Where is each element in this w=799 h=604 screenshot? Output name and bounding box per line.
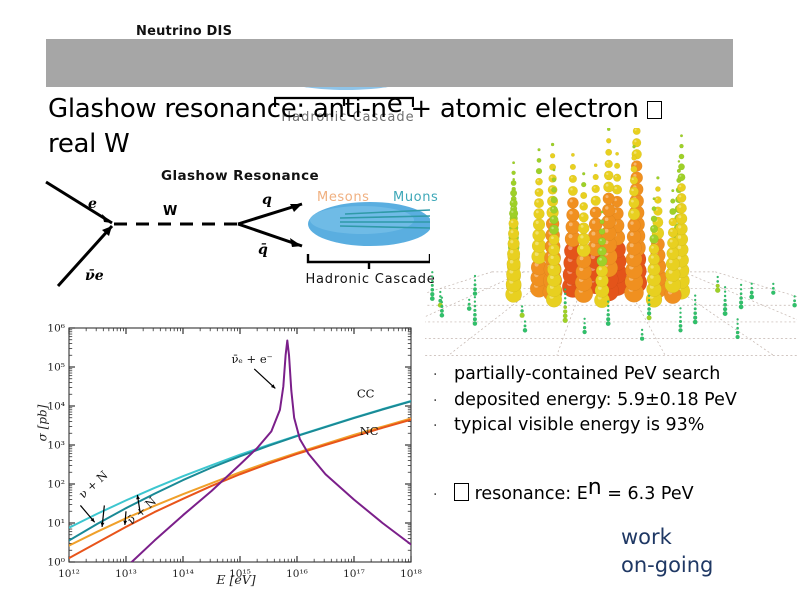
svg-text:10⁴: 10⁴	[47, 401, 65, 413]
event-dom-sphere	[602, 204, 615, 217]
event-dom-sphere	[474, 305, 477, 308]
event-dom-sphere	[793, 299, 796, 302]
event-dom-sphere	[550, 215, 559, 224]
event-dom-sphere	[736, 331, 739, 334]
event-dom-sphere	[739, 301, 743, 305]
event-dom-sphere	[430, 296, 435, 301]
event-dom-sphere	[607, 305, 609, 307]
event-dom-sphere	[647, 307, 651, 311]
event-dom-sphere	[650, 225, 658, 233]
feynman-label-antineutrino-e: ν̄e	[85, 268, 104, 284]
bullet-text-resonance: resonance: En = 6.3 PeV	[454, 477, 694, 509]
event-dom-sphere	[440, 305, 443, 308]
event-dom-sphere	[693, 316, 697, 320]
event-dom-sphere	[629, 187, 638, 196]
event-dom-sphere	[549, 225, 559, 235]
event-dom-sphere	[597, 256, 608, 267]
event-dom-sphere	[580, 192, 587, 199]
event-dom-sphere	[648, 253, 660, 265]
event-dom-sphere	[678, 328, 682, 332]
event-dom-sphere	[593, 174, 599, 180]
event-dom-sphere	[652, 206, 657, 211]
event-dom-sphere	[568, 186, 578, 196]
event-dom-sphere	[677, 183, 686, 192]
event-dom-sphere	[749, 295, 754, 300]
event-dom-sphere	[564, 293, 566, 295]
event-dom-sphere	[582, 330, 586, 334]
event-dom-sphere	[474, 301, 476, 303]
event-dom-sphere	[648, 303, 651, 306]
feynman-label-antiquark: q̄	[258, 242, 268, 258]
bullet-marker: ·	[430, 365, 454, 385]
event-dom-sphere	[564, 297, 566, 299]
chart-annotation: NC	[360, 424, 379, 438]
event-dom-sphere	[431, 280, 433, 282]
event-dom-sphere	[520, 313, 525, 318]
list-item: · typical visible energy is 93%	[430, 413, 799, 439]
event-dom-sphere	[538, 148, 541, 151]
event-dom-sphere	[553, 169, 556, 172]
event-dom-sphere	[649, 234, 658, 243]
event-dom-sphere	[580, 202, 588, 210]
event-dom-sphere	[566, 208, 579, 221]
svg-text:10¹: 10¹	[47, 518, 65, 530]
event-dom-sphere	[679, 320, 682, 323]
event-display-svg	[425, 128, 797, 360]
event-dom-sphere	[647, 311, 651, 315]
feynman-label-electron: e	[88, 196, 97, 212]
event-dom-sphere	[715, 288, 720, 293]
event-dom-sphere	[607, 313, 610, 316]
event-dom-sphere	[590, 207, 602, 219]
event-dom-sphere	[694, 299, 696, 301]
bullet-text: partially-contained PeV search	[454, 362, 720, 388]
event-dom-sphere	[441, 297, 443, 299]
event-dom-sphere	[772, 283, 774, 285]
work-ongoing-note: work on-going	[621, 524, 713, 580]
event-dom-sphere	[474, 292, 476, 294]
event-dom-sphere	[563, 318, 568, 323]
event-dom-sphere	[431, 276, 433, 278]
event-dom-sphere	[534, 198, 544, 208]
event-dom-sphere	[740, 284, 742, 286]
event-dom-sphere	[632, 156, 637, 161]
event-dom-sphere	[723, 303, 727, 307]
event-dom-sphere	[678, 173, 686, 181]
event-dom-sphere	[570, 164, 576, 170]
work-ongoing-line-1: work	[621, 524, 713, 552]
event-dom-sphere	[628, 208, 640, 220]
event-dom-sphere	[613, 174, 621, 182]
event-dom-sphere	[676, 203, 686, 213]
event-dom-sphere	[563, 309, 567, 313]
event-dom-sphere	[473, 321, 477, 325]
event-dom-sphere	[679, 324, 683, 328]
event-dom-sphere	[569, 175, 577, 183]
feynman-label-mesons: Mesons	[317, 190, 370, 205]
event-dom-sphere	[667, 247, 679, 259]
title-missing-glyph-icon	[647, 101, 662, 119]
event-dom-sphere	[792, 303, 796, 307]
chart-annotation: ν̄ₑ + e⁻	[231, 352, 272, 366]
event-dom-sphere	[473, 313, 477, 317]
event-dom-sphere	[603, 182, 614, 193]
event-dom-sphere	[533, 219, 545, 231]
chart-plot-svg: 10¹²10¹³10¹⁴10¹⁵10¹⁶10¹⁷10¹⁸10⁰10¹10²10³…	[40, 316, 432, 600]
event-dom-sphere	[571, 153, 574, 156]
title-superscript-e: e	[387, 89, 403, 119]
event-dom-sphere	[751, 287, 753, 289]
chart-annotation: CC	[357, 386, 375, 400]
bullet-text: typical visible energy is 93%	[454, 413, 704, 439]
feynman-label-hadronic-cascade: Hadronic Cascade	[298, 272, 443, 287]
event-dom-sphere	[641, 329, 643, 331]
event-dom-sphere	[606, 317, 610, 321]
event-dom-sphere	[671, 189, 674, 192]
event-dom-sphere	[537, 158, 542, 163]
event-dom-sphere	[751, 283, 753, 285]
bullet-text: deposited energy: 5.9±0.18 PeV	[454, 388, 737, 414]
event-dom-sphere	[552, 178, 556, 182]
event-dom-sphere	[584, 322, 586, 324]
event-dom-sphere	[737, 318, 739, 320]
event-dom-sphere	[510, 199, 518, 207]
event-dom-sphere	[724, 286, 726, 288]
event-dom-sphere	[724, 295, 726, 297]
event-dom-sphere	[607, 301, 609, 303]
event-dom-sphere	[431, 284, 434, 287]
event-dom-sphere	[549, 234, 560, 245]
event-dom-sphere	[641, 333, 644, 336]
event-dom-sphere	[607, 309, 610, 312]
event-dom-sphere	[605, 160, 613, 168]
event-dom-sphere	[439, 291, 441, 293]
event-dom-sphere	[534, 208, 545, 219]
resonance-missing-glyph-icon	[454, 483, 469, 501]
event-dom-sphere	[736, 335, 740, 339]
event-dom-sphere	[794, 295, 796, 297]
bullet-marker: ·	[430, 391, 454, 411]
event-dom-sphere	[736, 327, 739, 330]
event-dom-sphere	[535, 178, 542, 185]
event-dom-sphere	[669, 218, 677, 226]
event-dom-sphere	[566, 220, 580, 234]
event-dom-sphere	[677, 193, 686, 202]
event-dom-sphere	[628, 219, 641, 232]
event-dom-sphere	[508, 238, 520, 250]
event-dom-sphere	[679, 307, 681, 309]
event-dom-sphere	[550, 206, 558, 214]
glashow-figure-title: Glashow Resonance	[100, 168, 380, 184]
event-dom-sphere	[440, 313, 444, 317]
svg-text:10⁶: 10⁶	[47, 323, 65, 335]
event-dom-sphere	[600, 220, 605, 225]
event-dom-sphere	[606, 321, 611, 326]
event-dom-sphere	[603, 193, 615, 205]
event-dom-sphere	[693, 311, 696, 314]
event-dom-sphere	[737, 323, 739, 325]
chart-y-axis-label: σ [pb]	[35, 405, 49, 442]
event-dom-sphere	[771, 291, 775, 295]
event-dom-sphere	[510, 190, 517, 197]
svg-text:10²: 10²	[47, 479, 65, 491]
event-dom-sphere	[592, 185, 600, 193]
event-dom-sphere	[670, 199, 675, 204]
event-dom-sphere	[630, 176, 638, 184]
event-dom-sphere	[521, 309, 524, 312]
event-dom-sphere	[508, 228, 519, 239]
event-dom-sphere	[598, 238, 606, 246]
svg-text:10³: 10³	[47, 440, 65, 452]
event-dom-sphere	[583, 326, 586, 329]
event-dom-sphere	[694, 307, 697, 310]
event-dom-sphere	[584, 318, 586, 320]
event-dom-sphere	[597, 247, 606, 256]
bullet-marker: ·	[430, 416, 454, 436]
event-dom-sphere	[512, 171, 516, 175]
event-dom-sphere	[509, 219, 519, 229]
event-dom-sphere	[468, 303, 471, 306]
resonance-suffix: = 6.3 PeV	[602, 484, 694, 504]
event-dom-sphere	[579, 212, 589, 222]
event-dom-sphere	[548, 244, 560, 256]
chart-x-axis-label: E [eV]	[40, 572, 432, 587]
neutrino-dis-figure-title: Neutrino DIS	[136, 24, 232, 39]
event-dom-sphere	[564, 288, 566, 290]
svg-text:10⁵: 10⁵	[47, 362, 65, 374]
event-dom-sphere	[648, 299, 650, 301]
event-dom-sphere	[693, 320, 697, 324]
event-dom-sphere	[551, 187, 556, 192]
event-dom-sphere	[536, 168, 542, 174]
event-dom-sphere	[750, 291, 754, 295]
event-dom-sphere	[468, 299, 470, 301]
event-dom-sphere	[467, 306, 471, 310]
event-dom-sphere	[614, 163, 620, 169]
event-dom-sphere	[581, 182, 586, 187]
event-dom-sphere	[474, 279, 476, 281]
event-dom-sphere	[680, 134, 683, 137]
event-dom-sphere	[740, 288, 742, 290]
bullet-list: · partially-contained PeV search · depos…	[430, 362, 799, 509]
event-dom-sphere	[521, 305, 523, 307]
svg-text:10⁰: 10⁰	[47, 557, 65, 569]
slide-canvas: Neutrino DIS Hadronic Cascade Glashow re…	[0, 0, 799, 600]
event-dom-sphere	[604, 171, 613, 180]
event-dom-sphere	[615, 152, 618, 155]
resonance-prefix: resonance: E	[469, 484, 588, 504]
event-dom-sphere	[578, 223, 589, 234]
event-dom-sphere	[724, 291, 726, 293]
event-dom-sphere	[551, 143, 554, 146]
feynman-label-quark: q	[262, 192, 272, 208]
event-dom-sphere	[668, 228, 678, 238]
event-dom-sphere	[679, 316, 681, 318]
event-dom-sphere	[441, 301, 443, 303]
event-dom-sphere	[509, 209, 518, 218]
event-dom-sphere	[676, 213, 687, 224]
cross-section-chart: σ [pb] E [eV] 10¹²10¹³10¹⁴10¹⁵10¹⁶10¹⁷10…	[40, 316, 432, 600]
event-dom-sphere	[678, 160, 680, 162]
event-dom-sphere	[551, 197, 558, 204]
event-dom-sphere	[474, 275, 476, 277]
event-dom-sphere	[651, 216, 657, 222]
event-dom-sphere	[739, 296, 742, 299]
event-dom-sphere	[511, 180, 516, 186]
event-dom-sphere	[648, 295, 650, 297]
event-dom-sphere	[739, 305, 744, 310]
event-dom-sphere	[654, 196, 661, 203]
event-dom-sphere	[655, 186, 660, 191]
event-dom-sphere	[647, 315, 652, 320]
gray-overlay-band	[46, 39, 733, 87]
event-dom-sphere	[649, 244, 659, 254]
event-dom-sphere	[599, 228, 605, 234]
event-dom-sphere	[678, 164, 684, 170]
title-segment-2: + atomic electron	[402, 94, 646, 124]
event-dom-sphere	[473, 287, 477, 291]
event-dom-sphere	[473, 317, 477, 321]
event-dom-sphere	[679, 312, 681, 314]
event-dom-sphere	[474, 283, 477, 286]
event-dom-sphere	[607, 128, 610, 131]
feynman-label-w-boson: W	[163, 204, 178, 219]
event-dom-sphere	[594, 164, 597, 167]
event-dom-sphere	[601, 211, 604, 214]
event-dom-sphere	[577, 233, 589, 245]
event-dom-sphere	[716, 280, 719, 283]
list-item: · partially-contained PeV search	[430, 362, 799, 388]
event-dom-sphere	[694, 295, 696, 297]
event-dom-sphere	[524, 325, 527, 328]
event-dom-sphere	[679, 144, 683, 148]
event-dom-sphere	[640, 337, 644, 341]
event-dom-sphere	[564, 301, 567, 304]
work-ongoing-line-2: on-going	[621, 552, 713, 580]
event-dom-sphere	[474, 296, 476, 298]
list-item: · deposited energy: 5.9±0.18 PeV	[430, 388, 799, 414]
list-item-resonance: · resonance: En = 6.3 PeV	[430, 477, 799, 509]
event-dom-sphere	[667, 237, 678, 248]
event-dom-sphere	[632, 145, 635, 148]
event-dom-sphere	[440, 309, 444, 313]
event-dom-sphere	[717, 276, 719, 278]
event-dom-sphere	[430, 292, 434, 296]
event-dom-sphere	[473, 309, 476, 312]
title-segment-1: Glashow resonance: anti-n	[48, 94, 387, 124]
event-dom-sphere	[724, 299, 727, 302]
event-dom-sphere	[670, 208, 677, 215]
event-dom-sphere	[524, 320, 526, 322]
event-dom-sphere	[605, 149, 612, 156]
event-dom-sphere	[563, 314, 568, 319]
event-dom-sphere	[523, 328, 527, 332]
event-dom-sphere	[679, 154, 684, 159]
event-dom-sphere	[772, 287, 775, 290]
event-dom-sphere	[431, 271, 433, 273]
event-dom-sphere	[631, 166, 638, 173]
icecube-event-display	[425, 128, 797, 360]
event-dom-sphere	[716, 284, 720, 288]
event-dom-sphere	[723, 311, 728, 316]
event-dom-sphere	[723, 307, 727, 311]
title-line-2: real W	[48, 129, 129, 159]
event-dom-sphere	[431, 288, 435, 292]
bullet-marker: ·	[430, 485, 454, 505]
event-dom-sphere	[596, 265, 608, 277]
event-dom-sphere	[512, 161, 515, 164]
event-dom-sphere	[582, 172, 585, 175]
glashow-resonance-figure: Glashow Resonance e	[40, 168, 430, 298]
event-dom-sphere	[591, 196, 601, 206]
event-dom-sphere	[740, 292, 743, 295]
event-dom-sphere	[535, 188, 544, 197]
event-dom-sphere	[629, 198, 640, 209]
event-dom-sphere	[550, 153, 555, 158]
event-dom-sphere	[567, 197, 578, 208]
event-dom-sphere	[694, 303, 696, 305]
event-dom-sphere	[653, 197, 656, 200]
event-dom-sphere	[633, 128, 641, 135]
resonance-superscript-n: n	[588, 475, 602, 500]
event-dom-sphere	[656, 176, 659, 179]
event-dom-sphere	[563, 305, 567, 309]
event-dom-sphere	[606, 138, 611, 143]
